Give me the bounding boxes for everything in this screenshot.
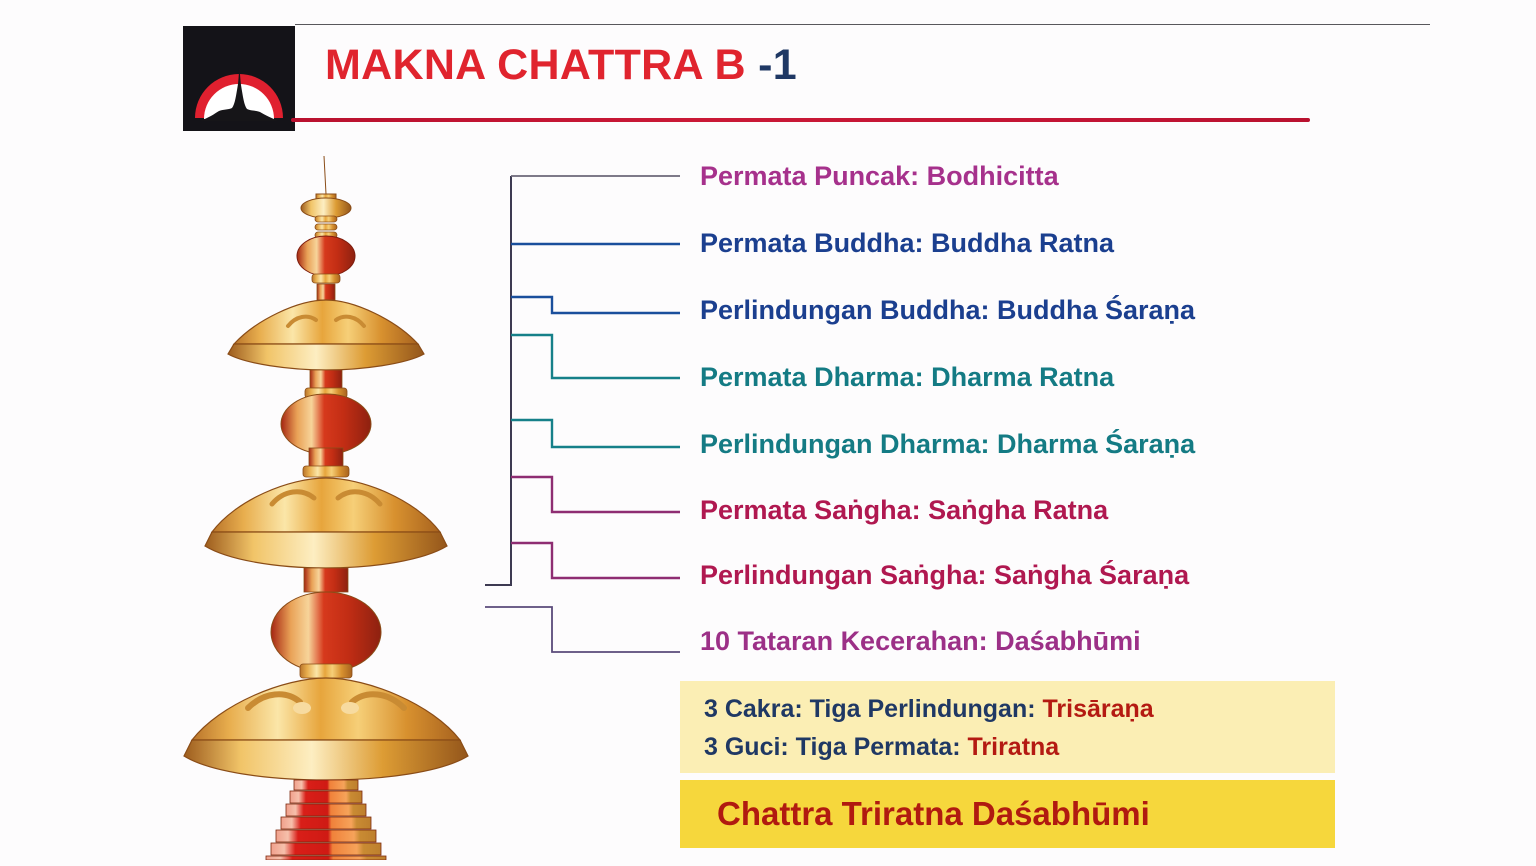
label-permata-buddha: Permata Buddha: Buddha Ratna xyxy=(700,230,1114,257)
summary-line-2-highlight: Triratna xyxy=(968,733,1060,761)
conclusion-box: Chattra Triratna Daśabhūmi xyxy=(680,780,1335,848)
summary-line-1: 3 Cakra: Tiga Perlindungan: Trisāraṇa xyxy=(704,697,1154,722)
slide-canvas: MAKNA CHATTRA B -1 xyxy=(0,0,1536,866)
label-dasabhumi: 10 Tataran Kecerahan: Daśabhūmi xyxy=(700,628,1141,655)
label-permata-dharma: Permata Dharma: Dharma Ratna xyxy=(700,364,1114,391)
conclusion-title: Chattra Triratna Daśabhūmi xyxy=(717,797,1150,830)
label-permata-puncak: Permata Puncak: Bodhicitta xyxy=(700,163,1059,190)
summary-line-2-prefix: 3 Guci: Tiga Permata: xyxy=(704,733,968,761)
summary-box: 3 Cakra: Tiga Perlindungan: Trisāraṇa 3 … xyxy=(680,681,1335,773)
label-permata-sangha: Permata Saṅgha: Saṅgha Ratna xyxy=(700,497,1108,524)
page-title: MAKNA CHATTRA B -1 xyxy=(325,44,797,87)
chattra-stupa-illustration xyxy=(176,148,516,860)
header-accent-rule xyxy=(291,118,1310,122)
borobudur-logo xyxy=(183,26,295,131)
label-perlindungan-sangha: Perlindungan Saṅgha: Saṅgha Śaraṇa xyxy=(700,562,1189,589)
page-title-main: MAKNA CHATTRA B xyxy=(325,41,746,89)
label-perlindungan-dharma: Perlindungan Dharma: Dharma Śaraṇa xyxy=(700,431,1195,458)
label-perlindungan-buddha: Perlindungan Buddha: Buddha Śaraṇa xyxy=(700,297,1195,324)
summary-line-1-highlight: Trisāraṇa xyxy=(1043,695,1154,723)
summary-line-2: 3 Guci: Tiga Permata: Triratna xyxy=(704,735,1059,760)
header-top-rule xyxy=(295,24,1430,25)
summary-line-1-prefix: 3 Cakra: Tiga Perlindungan: xyxy=(704,695,1043,723)
page-title-suffix: -1 xyxy=(758,41,797,89)
